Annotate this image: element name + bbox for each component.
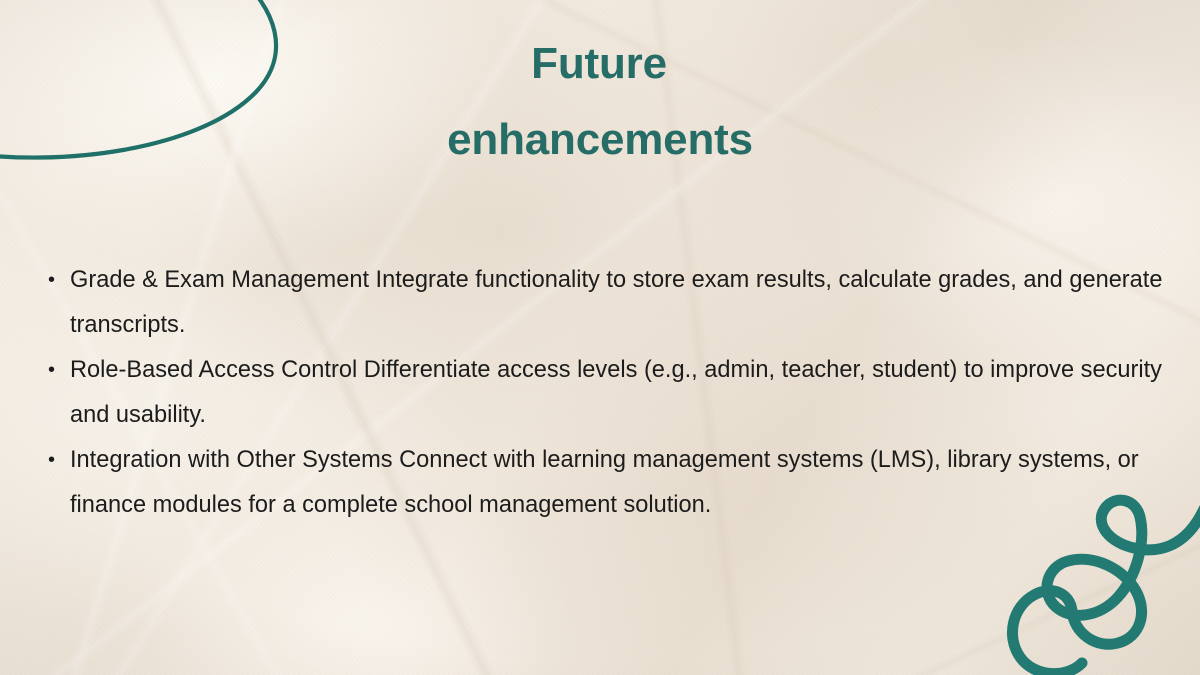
slide-title-line-2: enhancements: [0, 102, 1200, 178]
slide-title: Future enhancements: [0, 26, 1200, 178]
slide-title-line-1: Future: [0, 26, 1200, 102]
list-item: • Integration with Other Systems Connect…: [48, 438, 1172, 528]
list-item-text: Role-Based Access Control Differentiate …: [70, 348, 1172, 438]
slide-canvas: Future enhancements • Grade & Exam Manag…: [0, 0, 1200, 675]
list-item-text: Grade & Exam Management Integrate functi…: [70, 258, 1172, 348]
list-item: • Role-Based Access Control Differentiat…: [48, 348, 1172, 438]
bullet-point-icon: •: [48, 348, 70, 393]
bullet-point-icon: •: [48, 438, 70, 483]
bullet-point-icon: •: [48, 258, 70, 303]
list-item: • Grade & Exam Management Integrate func…: [48, 258, 1172, 348]
bullet-list: • Grade & Exam Management Integrate func…: [48, 258, 1172, 528]
list-item-text: Integration with Other Systems Connect w…: [70, 438, 1172, 528]
